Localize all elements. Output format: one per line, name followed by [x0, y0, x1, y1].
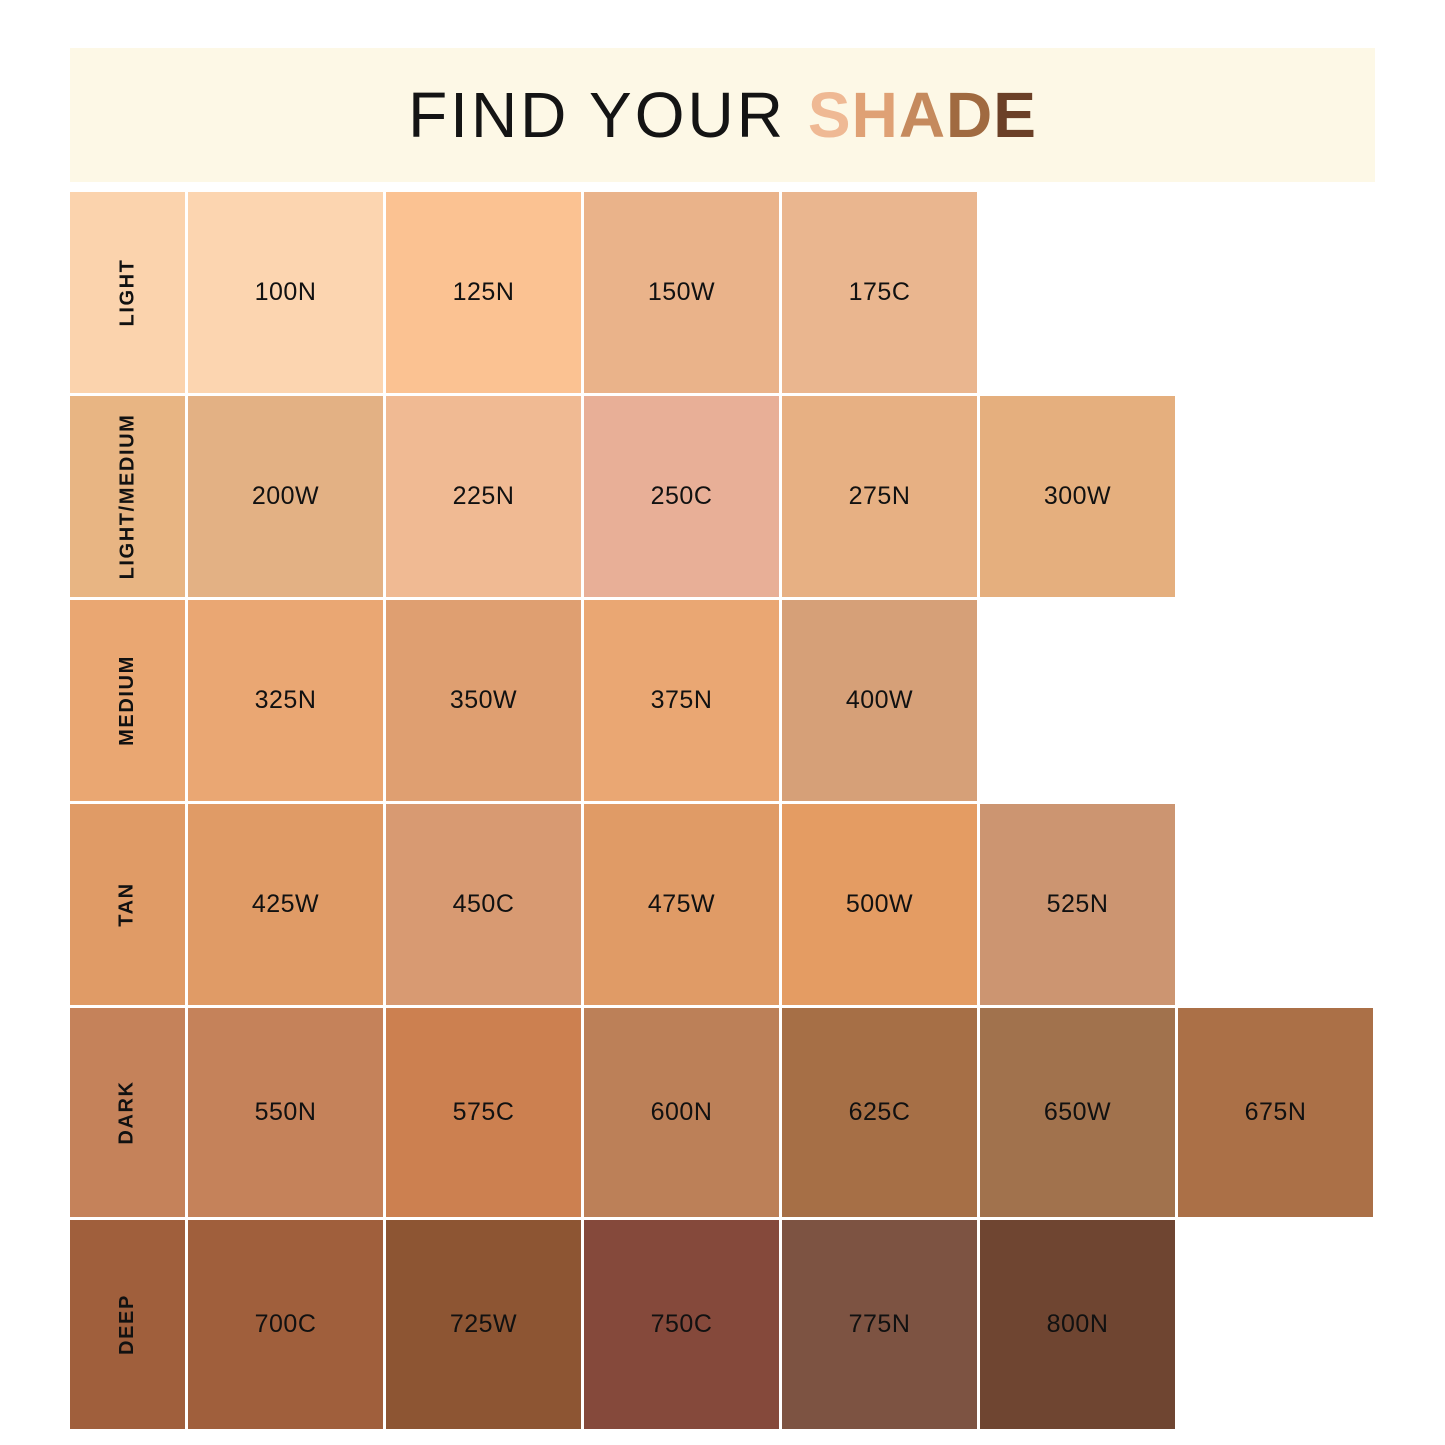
shade-code-label: 275N	[849, 482, 911, 511]
title-plain-part: FIND YOUR	[408, 83, 786, 147]
shade-row-light-medium: LIGHT/MEDIUM200W225N250C275N300W	[70, 396, 1376, 600]
row-label-cell-light: LIGHT	[70, 192, 188, 396]
row-label-text: DARK	[116, 1080, 139, 1144]
shade-row-deep: DEEP700C725W750C775N800N	[70, 1220, 1376, 1432]
shade-row-tan: TAN425W450C475W500W525N	[70, 804, 1376, 1008]
row-label-text: DEEP	[116, 1294, 139, 1355]
shade-code-label: 175C	[849, 278, 911, 307]
title-accent-letter-d: D	[946, 83, 993, 147]
shade-row-light: LIGHT100N125N150W175C	[70, 192, 1376, 396]
shade-swatch-750c[interactable]: 750C	[584, 1220, 782, 1432]
shade-code-label: 250C	[651, 482, 713, 511]
shade-row-medium: MEDIUM325N350W375N400W	[70, 600, 1376, 804]
shade-swatch-225n[interactable]: 225N	[386, 396, 584, 600]
shade-code-label: 475W	[648, 890, 715, 919]
shade-code-label: 425W	[252, 890, 319, 919]
shade-code-label: 100N	[255, 278, 317, 307]
row-label-text: LIGHT/MEDIUM	[116, 414, 139, 580]
shade-swatch-400w[interactable]: 400W	[782, 600, 980, 804]
shade-grid: LIGHT100N125N150W175CLIGHT/MEDIUM200W225…	[70, 192, 1376, 1432]
shade-row-dark: DARK550N575C600N625C650W675N	[70, 1008, 1376, 1220]
row-label-text: TAN	[116, 882, 139, 926]
shade-code-label: 650W	[1044, 1098, 1111, 1127]
shade-code-label: 125N	[453, 278, 515, 307]
shade-code-label: 450C	[453, 890, 515, 919]
shade-swatch-600n[interactable]: 600N	[584, 1008, 782, 1220]
shade-swatch-625c[interactable]: 625C	[782, 1008, 980, 1220]
shade-swatch-550n[interactable]: 550N	[188, 1008, 386, 1220]
row-label-cell-tan: TAN	[70, 804, 188, 1008]
shade-code-label: 400W	[846, 686, 913, 715]
shade-code-label: 300W	[1044, 482, 1111, 511]
shade-code-label: 525N	[1047, 890, 1109, 919]
shade-code-label: 200W	[252, 482, 319, 511]
shade-swatch-125n[interactable]: 125N	[386, 192, 584, 396]
title-banner: FIND YOUR SHADE	[70, 48, 1375, 182]
title-accent-letter-h: H	[852, 83, 899, 147]
shade-swatch-425w[interactable]: 425W	[188, 804, 386, 1008]
row-label-text: MEDIUM	[116, 655, 139, 746]
shade-code-label: 625C	[849, 1098, 911, 1127]
shade-chart-page: FIND YOUR SHADE LIGHT100N125N150W175CLIG…	[0, 0, 1445, 1445]
shade-swatch-300w[interactable]: 300W	[980, 396, 1178, 600]
shade-swatch-150w[interactable]: 150W	[584, 192, 782, 396]
shade-swatch-200w[interactable]: 200W	[188, 396, 386, 600]
shade-code-label: 725W	[450, 1310, 517, 1339]
shade-swatch-325n[interactable]: 325N	[188, 600, 386, 804]
shade-swatch-275n[interactable]: 275N	[782, 396, 980, 600]
shade-code-label: 550N	[255, 1098, 317, 1127]
shade-swatch-725w[interactable]: 725W	[386, 1220, 584, 1432]
title-accent-letter-e: E	[993, 83, 1037, 147]
shade-swatch-375n[interactable]: 375N	[584, 600, 782, 804]
shade-code-label: 575C	[453, 1098, 515, 1127]
row-label-cell-deep: DEEP	[70, 1220, 188, 1432]
shade-swatch-650w[interactable]: 650W	[980, 1008, 1178, 1220]
shade-code-label: 775N	[849, 1310, 911, 1339]
shade-swatch-350w[interactable]: 350W	[386, 600, 584, 804]
shade-swatch-775n[interactable]: 775N	[782, 1220, 980, 1432]
shade-swatch-675n[interactable]: 675N	[1178, 1008, 1376, 1220]
shade-swatch-700c[interactable]: 700C	[188, 1220, 386, 1432]
title-accent-letter-a: A	[899, 83, 946, 147]
shade-swatch-575c[interactable]: 575C	[386, 1008, 584, 1220]
row-label-text: LIGHT	[116, 259, 139, 327]
title-accent-letter-s: S	[808, 83, 852, 147]
shade-swatch-800n[interactable]: 800N	[980, 1220, 1178, 1432]
shade-swatch-500w[interactable]: 500W	[782, 804, 980, 1008]
shade-code-label: 150W	[648, 278, 715, 307]
shade-swatch-100n[interactable]: 100N	[188, 192, 386, 396]
shade-swatch-525n[interactable]: 525N	[980, 804, 1178, 1008]
shade-swatch-250c[interactable]: 250C	[584, 396, 782, 600]
shade-code-label: 800N	[1047, 1310, 1109, 1339]
shade-code-label: 700C	[255, 1310, 317, 1339]
shade-swatch-475w[interactable]: 475W	[584, 804, 782, 1008]
shade-swatch-450c[interactable]: 450C	[386, 804, 584, 1008]
shade-code-label: 325N	[255, 686, 317, 715]
page-title: FIND YOUR SHADE	[408, 83, 1037, 147]
shade-code-label: 675N	[1245, 1098, 1307, 1127]
shade-code-label: 750C	[651, 1310, 713, 1339]
shade-code-label: 350W	[450, 686, 517, 715]
shade-code-label: 375N	[651, 686, 713, 715]
title-accent-part: SHADE	[808, 83, 1037, 147]
shade-swatch-175c[interactable]: 175C	[782, 192, 980, 396]
row-label-cell-light-medium: LIGHT/MEDIUM	[70, 396, 188, 600]
row-label-cell-dark: DARK	[70, 1008, 188, 1220]
shade-code-label: 500W	[846, 890, 913, 919]
row-label-cell-medium: MEDIUM	[70, 600, 188, 804]
shade-code-label: 225N	[453, 482, 515, 511]
shade-code-label: 600N	[651, 1098, 713, 1127]
